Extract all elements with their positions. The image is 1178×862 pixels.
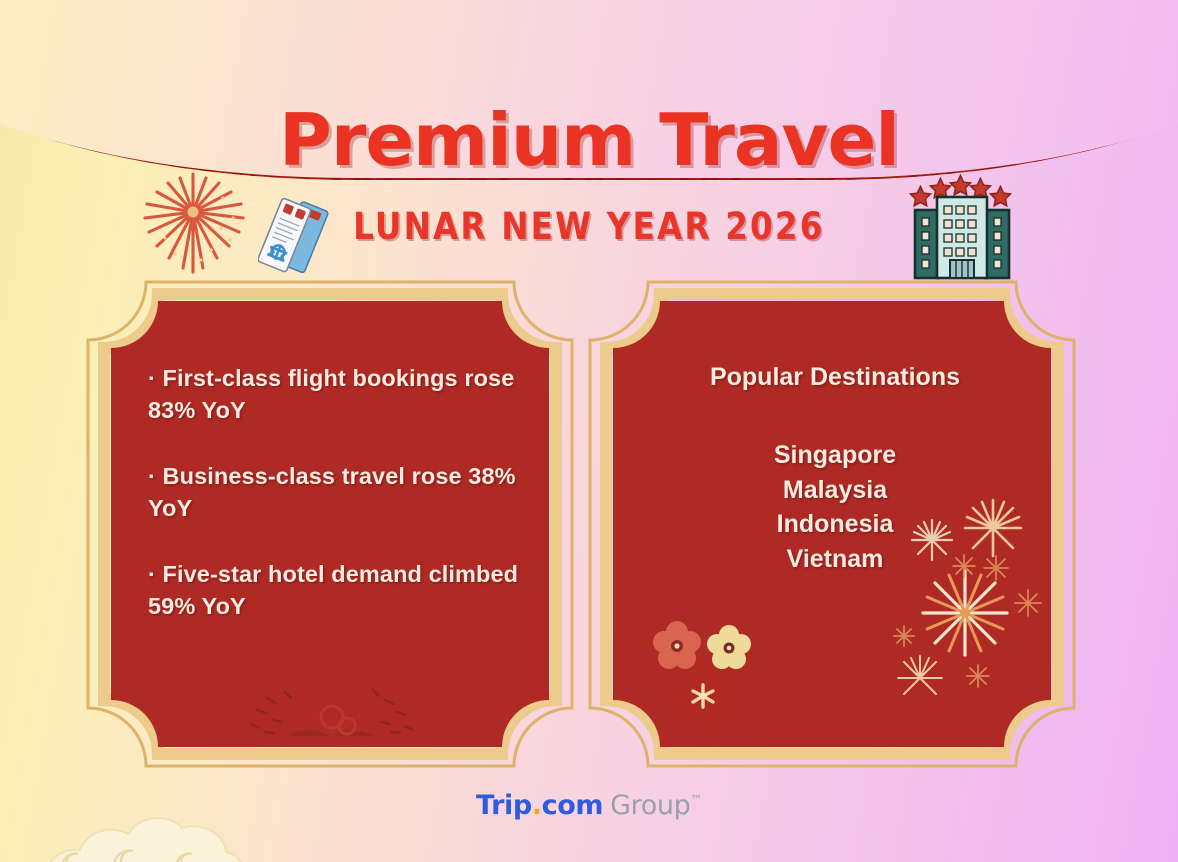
destination-item: Malaysia xyxy=(610,473,1060,508)
stat-bullet-1: · First-class flight bookings rose 83% Y… xyxy=(148,363,548,427)
blossom-flowers-icon xyxy=(645,612,765,727)
destination-item: Indonesia xyxy=(610,507,1060,542)
firework-icon xyxy=(135,168,255,278)
page-subtitle: LUNAR NEW YEAR 2026 xyxy=(353,205,824,248)
poster-canvas: Premium Travel LUNAR NEW YEAR 2026 xyxy=(0,0,1178,862)
stat-bullet-2: · Business-class travel rose 38% YoY xyxy=(148,461,548,525)
page-title: Premium Travel xyxy=(0,104,1178,176)
left-panel-content: · First-class flight bookings rose 83% Y… xyxy=(148,363,548,623)
chinese-fan-icon xyxy=(225,662,435,742)
logo-trip-text: Trip xyxy=(476,790,532,821)
flight-tickets-icon xyxy=(258,192,336,282)
poster-title-wrap: Premium Travel xyxy=(0,104,1178,176)
logo-trademark: ™ xyxy=(690,793,702,807)
destination-item: Singapore xyxy=(610,438,1060,473)
five-star-hotel-icon xyxy=(908,170,1016,282)
stat-bullet-3: · Five-star hotel demand climbed 59% YoY xyxy=(148,559,548,623)
right-panel-content: Popular Destinations Singapore Malaysia … xyxy=(610,363,1060,576)
logo-dot: . xyxy=(532,790,542,821)
destination-item: Vietnam xyxy=(610,542,1060,577)
logo-group-text: Group xyxy=(610,790,690,821)
trip-com-group-logo: Trip.comGroup™ xyxy=(0,790,1178,821)
destinations-heading: Popular Destinations xyxy=(610,363,1060,392)
logo-com-text: com xyxy=(542,790,604,821)
